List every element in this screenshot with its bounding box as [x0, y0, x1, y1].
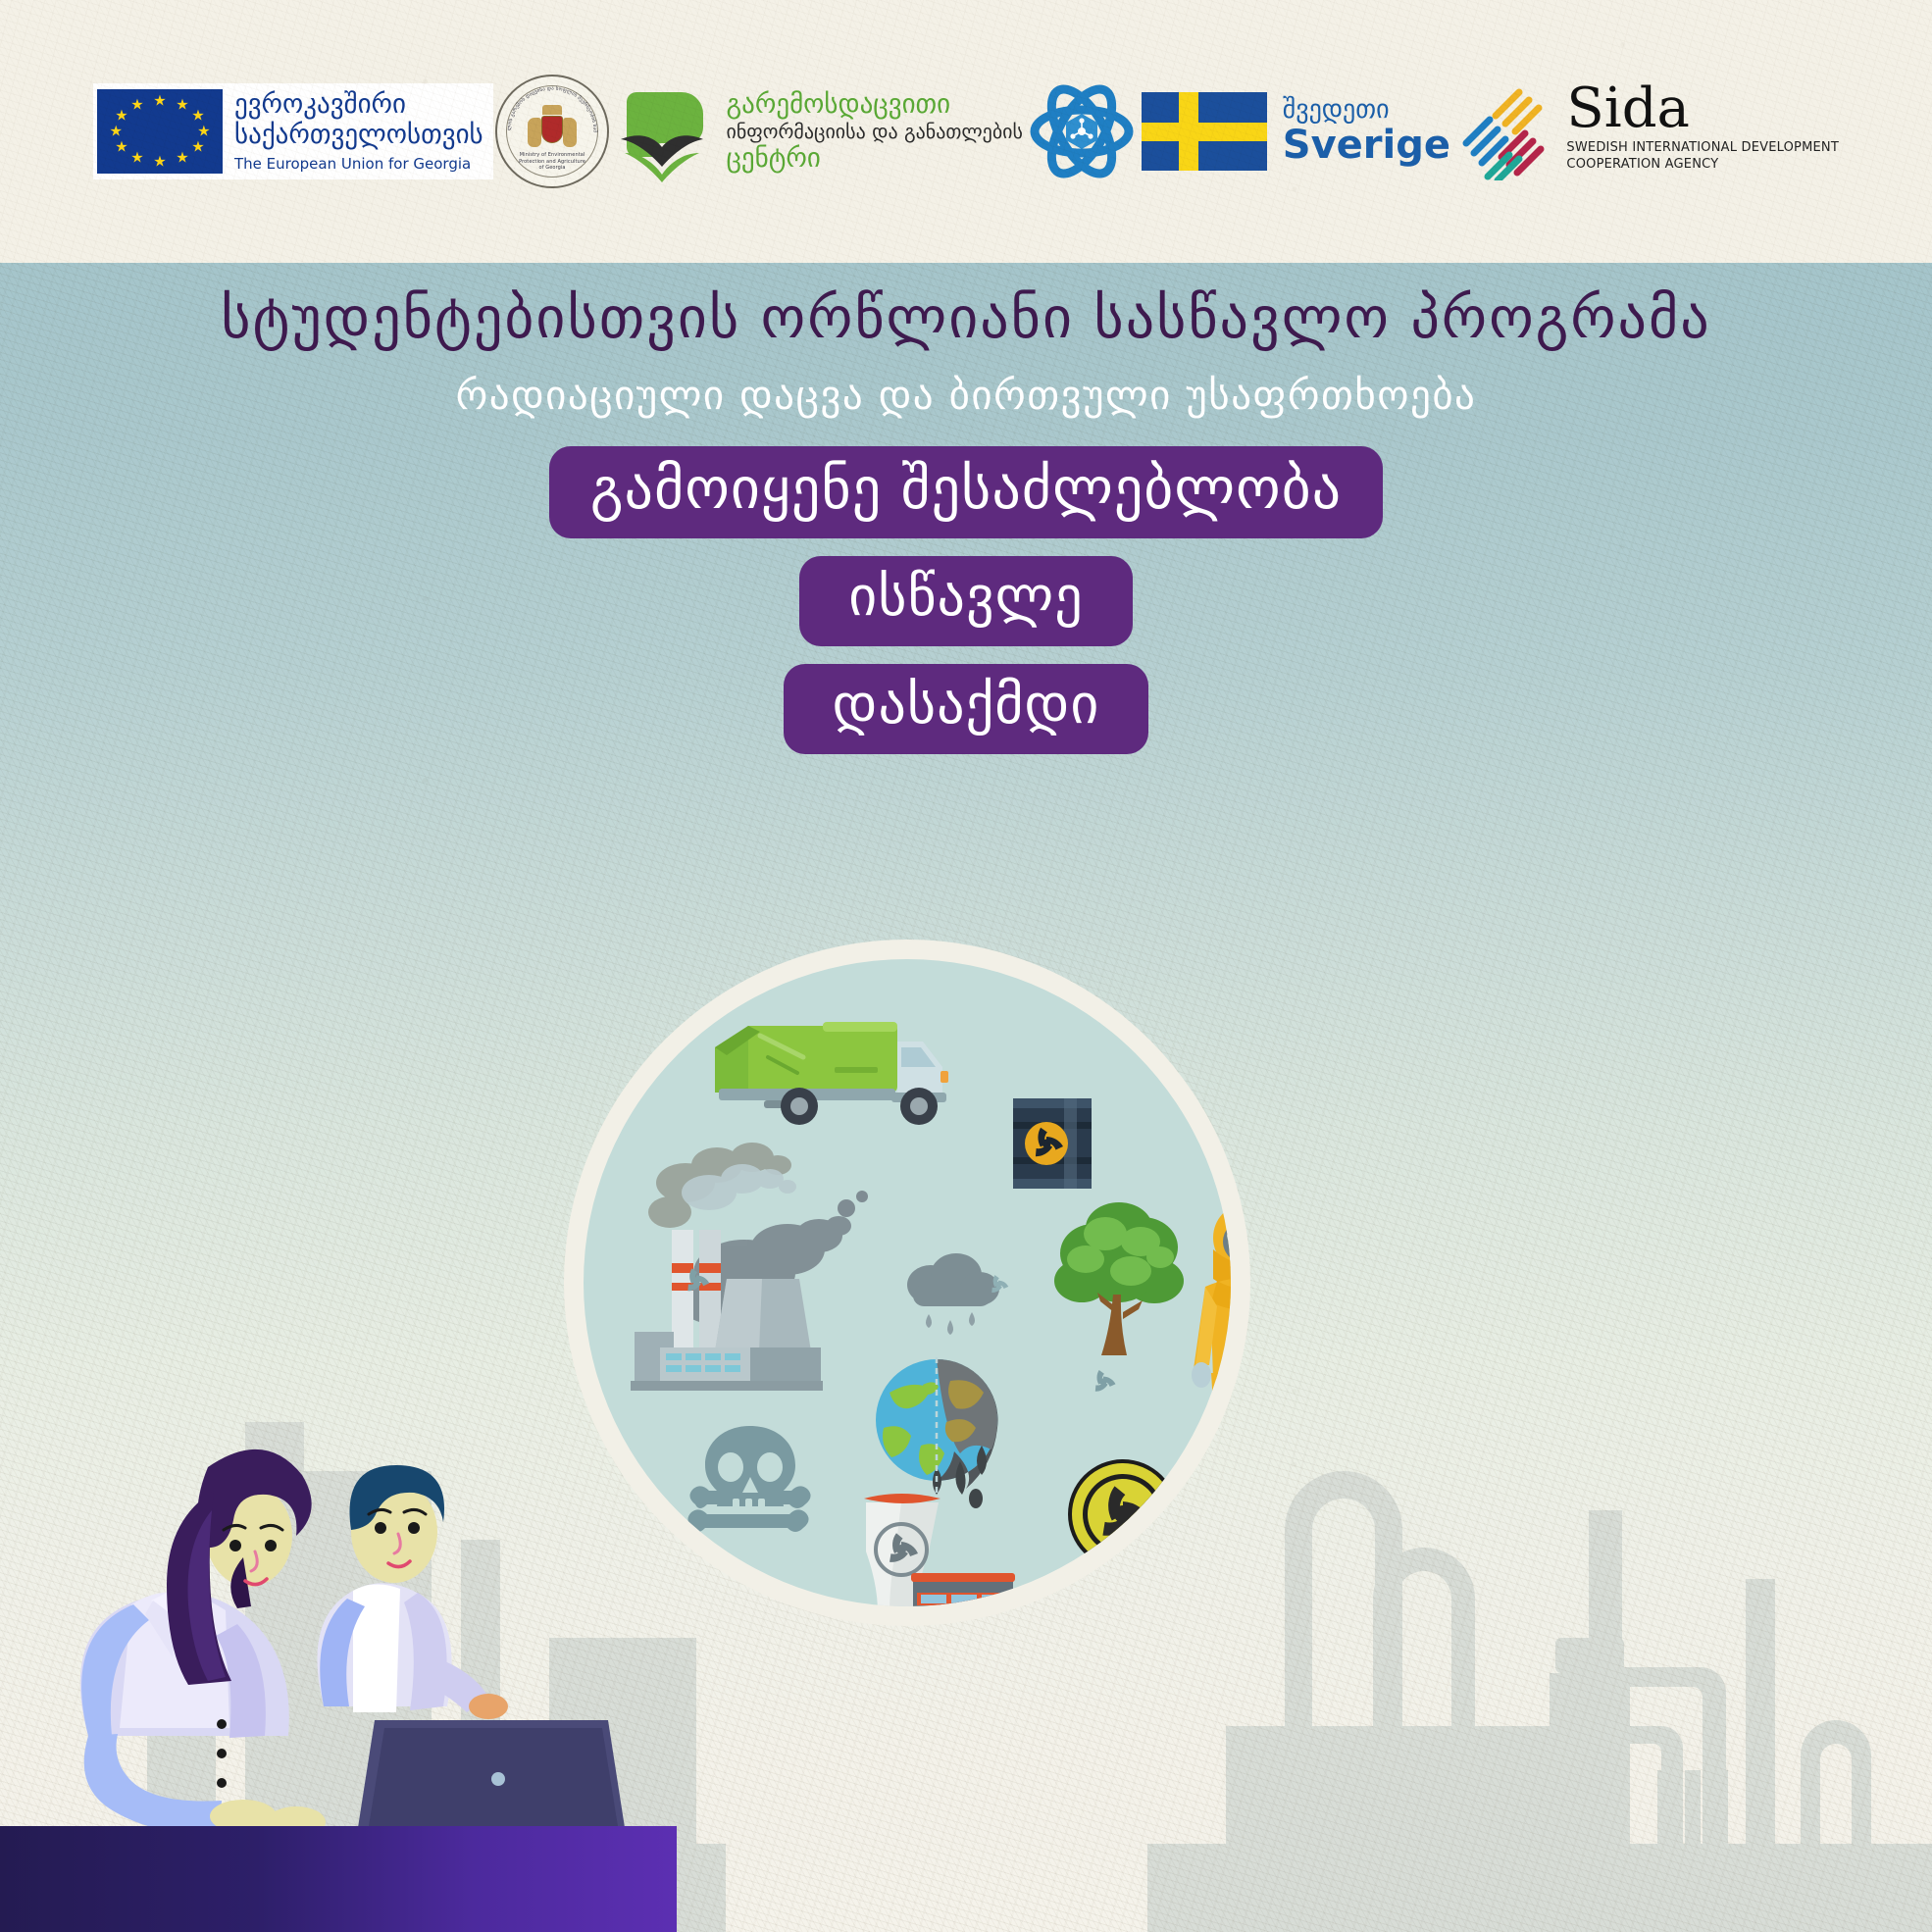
nuclear-agency-logo	[1025, 75, 1139, 188]
desk-front-panel	[0, 1826, 677, 1932]
eu-logo-ka-line1: ევროკავშირი	[234, 90, 483, 120]
program-topic: რადიაციული დაცვა და ბირთვული უსაფრთხოება	[0, 372, 1932, 419]
eu-logo-en-line: The European Union for Georgia	[234, 155, 483, 173]
badge-get-employed[interactable]: დასაქმდი	[784, 664, 1149, 754]
student-male	[317, 1465, 508, 1719]
env-centre-ka-line2: ინფორმაციისა და განათლების	[726, 121, 1023, 143]
sida-sub-line2: COOPERATION AGENCY	[1566, 157, 1839, 174]
atom-icon	[1025, 75, 1139, 188]
program-subtitle: სტუდენტებისთვის ორწლიანი სასწავლო პროგრა…	[0, 282, 1932, 354]
radiation-trefoil-small-icon	[984, 1271, 1013, 1298]
ministry-en-line2: Protection and Agriculture	[507, 159, 597, 165]
sweden-ka-line: შვედეთი	[1283, 97, 1450, 123]
env-centre-ka-line1: გარემოსდაცვითი	[726, 90, 1023, 119]
ministry-seal-logo: საქართველოს გარემოს დაცვისა და სოფლის მე…	[495, 75, 609, 188]
donor-logo-bar: ★ ★ ★ ★ ★ ★ ★ ★ ★ ★ ★ ★ ევროკავშირ	[0, 0, 1932, 263]
radioactive-barrel-icon	[1007, 1093, 1097, 1195]
skull-crossbones-icon	[682, 1420, 819, 1538]
sida-sub-line1: SWEDISH INTERNATIONAL DEVELOPMENT	[1566, 140, 1839, 157]
sweden-logo: შვედეთი Sverige	[1142, 92, 1450, 171]
eu-flag-icon: ★ ★ ★ ★ ★ ★ ★ ★ ★ ★ ★ ★	[97, 89, 223, 174]
eu-logo-ka-line2: საქართველოსთვის	[234, 121, 483, 150]
environmental-centre-logo: გარემოსდაცვითი ინფორმაციისა და განათლები…	[611, 80, 1023, 182]
nuclear-cooling-tower-icon	[837, 1489, 1023, 1606]
tree-icon	[1046, 1198, 1194, 1375]
headline-block: სტუდენტებისთვის ორწლიანი სასწავლო პროგრა…	[0, 282, 1932, 754]
sweden-flag-icon	[1142, 92, 1267, 171]
radiation-trefoil-small-icon	[678, 1263, 715, 1298]
sida-logo: Sida SWEDISH INTERNATIONAL DEVELOPMENT C…	[1452, 82, 1839, 180]
illustration-disc	[584, 959, 1231, 1606]
poster-root: ★ ★ ★ ★ ★ ★ ★ ★ ★ ★ ★ ★ ევროკავშირ	[0, 0, 1932, 1932]
hazmat-worker-icon	[1180, 1202, 1231, 1465]
radiation-trefoil-small-icon	[1086, 1365, 1121, 1398]
call-to-action-badges: გამოიყენე შესაძლებლობა ისწავლე დასაქმდი	[0, 446, 1932, 754]
badge-study[interactable]: ისწავლე	[799, 556, 1132, 646]
ministry-en-line3: of Georgia	[507, 165, 597, 171]
sida-wordmark: Sida	[1566, 82, 1839, 134]
radiation-trefoil-small-icon	[1164, 1463, 1197, 1495]
smokestack-factory-icon	[615, 1136, 909, 1420]
env-centre-ka-line3: ცენტრი	[726, 144, 1023, 173]
eu-logo: ★ ★ ★ ★ ★ ★ ★ ★ ★ ★ ★ ★ ევროკავშირ	[93, 83, 493, 179]
garbage-truck-icon	[709, 1006, 954, 1129]
sweden-en-line: Sverige	[1283, 125, 1450, 166]
student-female	[80, 1449, 326, 1838]
sida-weave-icon	[1452, 86, 1554, 180]
poster-main-area: სტუდენტებისთვის ორწლიანი სასწავლო პროგრა…	[0, 263, 1932, 1932]
env-centre-book-icon	[611, 80, 713, 182]
badge-opportunity[interactable]: გამოიყენე შესაძლებლობა	[549, 446, 1383, 538]
